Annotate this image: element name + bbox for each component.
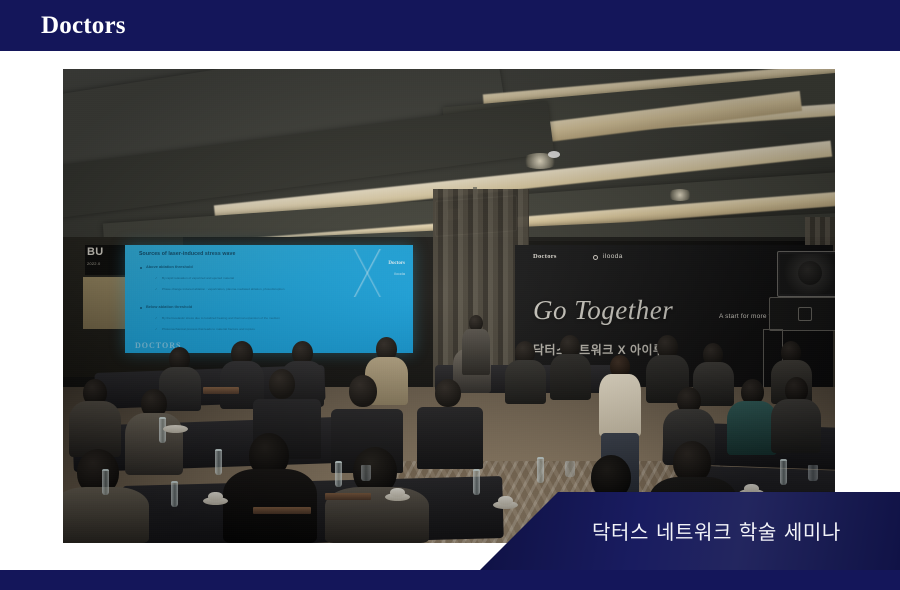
wall-banner-headline: Go Together xyxy=(533,295,673,326)
water-bottle xyxy=(537,457,544,483)
page-root: Doctors xyxy=(0,0,900,590)
attendee-head xyxy=(435,379,461,407)
footer-bar xyxy=(0,570,900,590)
monitor-image xyxy=(798,261,822,285)
attendee-body xyxy=(727,401,777,455)
slide-subpoint: Photomechanical process that leads to ma… xyxy=(162,327,255,331)
attendee-head xyxy=(269,369,295,399)
attendee-body xyxy=(550,354,591,400)
attendee-head xyxy=(349,375,377,407)
slide-bullet-marker xyxy=(140,267,142,269)
drinking-glass xyxy=(361,465,371,481)
attendee-body xyxy=(125,413,183,475)
slide-subpoint: By rapid relaxation of vaporized and eje… xyxy=(162,276,234,280)
water-bottle xyxy=(473,469,480,495)
wall-sign-left: BU 2022.0 xyxy=(85,245,127,275)
slide-bullet-heading: Above ablation threshold xyxy=(146,264,193,269)
slide-check-icon: ✓ xyxy=(155,316,158,320)
brand-logo[interactable]: Doctors xyxy=(41,13,126,39)
slide-check-icon: ✓ xyxy=(155,276,158,280)
slide-subpoint: Phase change induced ablation : vaporiza… xyxy=(162,287,284,291)
coffee-cup xyxy=(744,484,759,493)
drinking-glass xyxy=(565,461,575,477)
wall-sign-line1: BU xyxy=(87,246,104,258)
speaker-body xyxy=(462,329,490,375)
attendee-body xyxy=(505,360,546,404)
water-bottle xyxy=(780,459,787,485)
slide-check-icon: ✓ xyxy=(155,287,158,291)
attendee-body xyxy=(63,487,149,543)
coffee-cup xyxy=(390,488,405,497)
ceiling-downlight xyxy=(548,151,560,158)
header-bar: Doctors xyxy=(0,0,900,51)
presenter-shirt xyxy=(599,374,641,436)
slide-bullet-marker xyxy=(140,307,142,309)
slide-subpoint: By thermoelastic stress due to localized… xyxy=(162,316,280,320)
table-mat xyxy=(253,507,311,514)
caption-text: 닥터스 네트워크 학술 세미나 xyxy=(592,516,841,545)
attendee-body xyxy=(223,469,317,543)
wall-banner-brand-left: Doctors xyxy=(533,253,557,260)
drinking-glass xyxy=(808,465,818,481)
coffee-cup xyxy=(498,496,513,505)
wall-wood-panel xyxy=(83,277,129,329)
water-bottle xyxy=(215,449,222,475)
equipment-badge xyxy=(798,307,812,321)
wall-banner-brand-right: ilooda xyxy=(603,253,623,260)
chair xyxy=(417,407,483,469)
seminar-photo: BU 2022.0 Sources of laser-induced stres… xyxy=(63,69,835,543)
table-mat xyxy=(203,387,239,394)
ceiling-downlight xyxy=(667,189,693,201)
slide-bullet-heading: Below ablation threshold xyxy=(146,304,192,309)
slide-corner-logo: Doctors xyxy=(388,261,405,266)
ilooda-mark-icon xyxy=(593,255,598,260)
slide-title: Sources of laser-induced stress wave xyxy=(139,251,235,257)
slide-check-icon: ✓ xyxy=(155,327,158,331)
water-bottle xyxy=(335,461,342,487)
water-bottle xyxy=(171,481,178,507)
coffee-cup xyxy=(208,492,223,501)
water-bottle xyxy=(102,469,109,495)
table-mat xyxy=(325,493,371,500)
attendee-body xyxy=(771,399,821,453)
photo-content: BU 2022.0 Sources of laser-induced stres… xyxy=(63,69,835,543)
slide-corner-logo-sub: ilooda xyxy=(394,271,405,276)
saucer xyxy=(163,425,188,433)
wall-sign-line2: 2022.0 xyxy=(87,261,100,266)
projection-screen: Sources of laser-induced stress wave Abo… xyxy=(125,245,413,353)
